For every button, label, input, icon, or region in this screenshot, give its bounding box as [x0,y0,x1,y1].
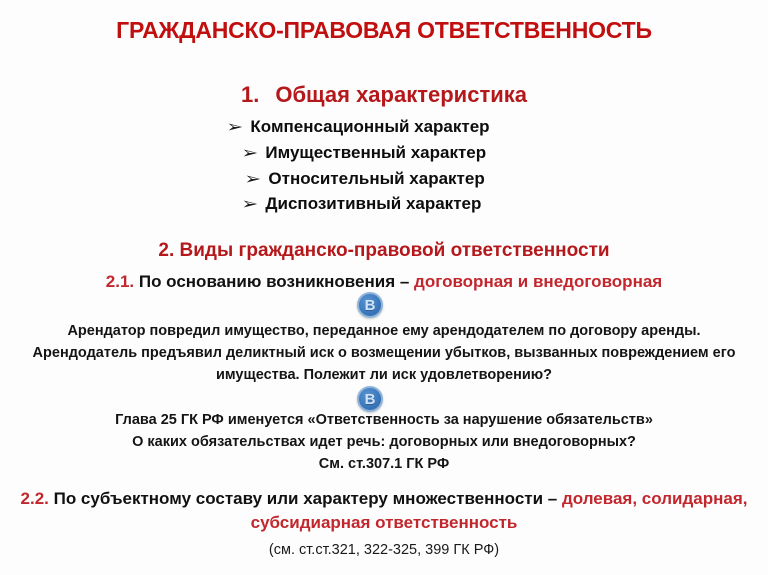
section-2-1-text: По основанию возникновения – [134,272,414,291]
list-item-label: Компенсационный характер [250,117,489,136]
presentation-slide: ГРАЖДАНСКО-ПРАВОВАЯ ОТВЕТСТВЕННОСТЬ 1.Об… [0,0,768,575]
case-study-paragraph: Арендатор повредил имущество, переданное… [24,320,744,386]
arrow-bullet-icon: ➢ [241,141,258,165]
list-item: ➢Имущественный характер [0,140,768,166]
chapter-question-paragraph: Глава 25 ГК РФ именуется «Ответственност… [24,409,744,475]
chapter-line-1: Глава 25 ГК РФ именуется «Ответственност… [24,409,744,431]
section-1-heading: 1.Общая характеристика [0,82,768,107]
page-title: ГРАЖДАНСКО-ПРАВОВАЯ ОТВЕТСТВЕННОСТЬ [0,18,768,43]
section-2-1-line: 2.1. По основанию возникновения – догово… [0,272,768,292]
list-item: ➢Относительный характер [0,166,768,192]
section-2-1-highlight: договорная и внедоговорная [414,272,662,291]
chapter-line-2: О каких обязательствах идет речь: догово… [24,431,744,453]
characteristics-list: ➢Компенсационный характер ➢Имущественный… [0,114,768,217]
section-2-2-number: 2.2. [21,489,49,508]
section-2-2-text: По субъектному составу или характеру мно… [49,489,562,508]
case-line-2: Арендодатель предъявил деликтный иск о в… [24,342,744,364]
section-1-heading-label: Общая характеристика [275,82,527,107]
list-item: ➢Диспозитивный характер [0,191,768,217]
list-item-label: Относительный характер [268,169,484,188]
arrow-bullet-icon: ➢ [244,167,261,191]
arrow-bullet-icon: ➢ [226,115,243,139]
chapter-line-3: См. ст.307.1 ГК РФ [24,453,744,475]
video-badge-1-icon[interactable]: В [357,292,383,318]
section-2-1-number: 2.1. [106,272,134,291]
section-2-2-line: 2.2. По субъектному составу или характер… [14,487,754,535]
case-line-3: имущества. Полежит ли иск удовлетворению… [24,364,744,386]
list-item: ➢Компенсационный характер [0,114,768,140]
section-2-2-reference: (см. ст.ст.321, 322-325, 399 ГК РФ) [0,541,768,560]
section-1-number: 1. [241,82,259,107]
section-2-heading: 2. Виды гражданско-правовой ответственно… [0,240,768,263]
list-item-label: Имущественный характер [265,143,486,162]
arrow-bullet-icon: ➢ [241,192,258,216]
case-line-1: Арендатор повредил имущество, переданное… [24,320,744,342]
list-item-label: Диспозитивный характер [265,194,481,213]
